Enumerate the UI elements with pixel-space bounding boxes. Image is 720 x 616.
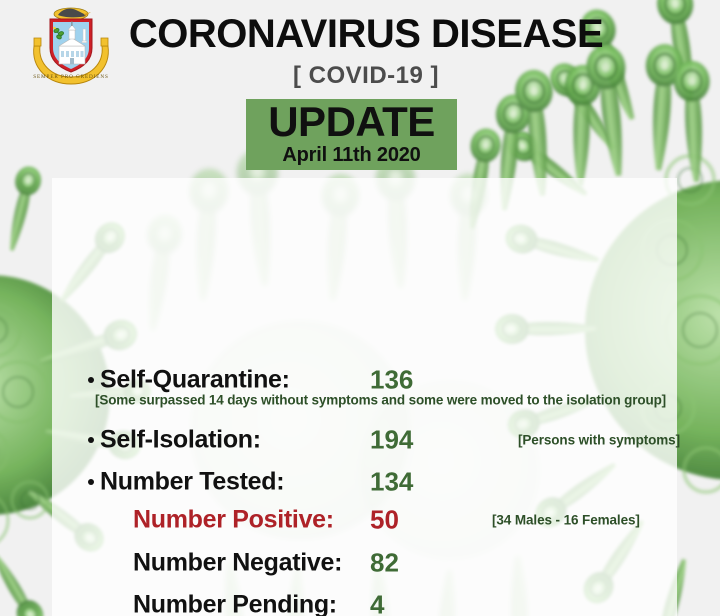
stat-label: Number Tested: [100, 468, 284, 497]
bullet-icon [88, 479, 94, 485]
page-title: CORONAVIRUS DISEASE [120, 11, 612, 57]
statistics-list: Self-Quarantine:136[Some surpassed 14 da… [52, 178, 677, 616]
stat-label: Self-Isolation: [100, 426, 261, 455]
stat-note: [Persons with symptoms] [518, 433, 680, 448]
bullet-icon [88, 437, 94, 443]
stat-subnote: [Some surpassed 14 days without symptoms… [95, 393, 666, 408]
poster-header: SEMPER PRO GREDIENS [0, 0, 720, 178]
svg-text:SEMPER PRO GREDIENS: SEMPER PRO GREDIENS [33, 74, 109, 80]
stat-label: Number Pending: [133, 591, 337, 616]
stat-label: Self-Quarantine: [100, 366, 290, 395]
stat-value: 134 [370, 467, 413, 498]
stat-label: Number Negative: [133, 549, 342, 578]
update-banner: UPDATE April 11th 2020 [246, 99, 457, 170]
update-date: April 11th 2020 [246, 144, 457, 166]
page-subtitle: [ COVID-19 ] [120, 62, 612, 90]
stat-value: 194 [370, 425, 413, 456]
stat-note: [34 Males - 16 Females] [492, 513, 640, 528]
sint-maarten-coat-of-arms-icon: SEMPER PRO GREDIENS [28, 6, 114, 88]
stat-value: 50 [370, 505, 399, 536]
stat-value: 136 [370, 365, 413, 396]
bullet-icon [88, 377, 94, 383]
stat-value: 82 [370, 548, 399, 579]
update-label: UPDATE [246, 100, 457, 144]
stat-value: 4 [370, 590, 384, 616]
covid-update-poster: SEMPER PRO GREDIENS [0, 0, 720, 616]
stat-label: Number Positive: [133, 506, 334, 535]
